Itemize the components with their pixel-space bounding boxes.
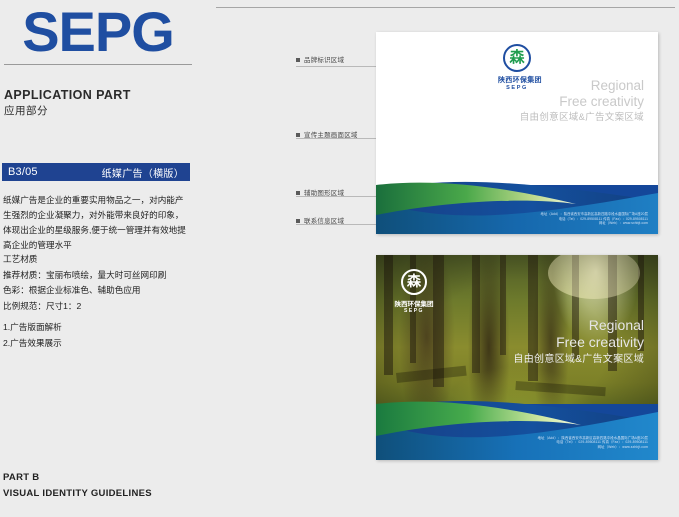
footer-part-label: PART B	[3, 472, 39, 483]
spec-line: 2.广告效果展示	[3, 336, 191, 352]
logo-glyph: 森	[403, 274, 425, 289]
vi-guideline-page: SEPG APPLICATION PART 应用部分 B3/05 纸媒广告（横版…	[0, 0, 679, 517]
logo-company-cn: 陕西环保集团	[392, 298, 436, 308]
annotation-label: 品牌标识区域	[304, 54, 344, 64]
wordmark-divider	[4, 64, 192, 65]
logo-glyph: 森	[505, 50, 529, 66]
spec-block: 工艺材质 推荐材质：宝丽布喷绘，量大时可丝网印刷 色彩：根据企业标准色、辅助色应…	[3, 252, 191, 351]
contact-website: 网址（Web）：www.sxhbjt.com	[541, 221, 648, 226]
ad-photo-mockup-card[interactable]: 森 陕西环保集团 SEPG Regional Free creativity 自…	[376, 255, 658, 460]
logo-lockup: 森 陕西环保集团 SEPG	[392, 269, 436, 314]
contact-info-block: 地址（Add）：陕西省西安市高新区高新四路中段水晶国际广场A座20层 电话（Te…	[541, 212, 648, 226]
section-header-bar: B3/05 纸媒广告（横版）	[2, 163, 190, 181]
bullet-square-icon	[296, 58, 300, 62]
contact-website: 网址（Web）：www.sxhbjt.com	[538, 445, 648, 450]
annotation-contact-info-area: 联系信息区域	[296, 216, 384, 228]
copy-line-1: Regional	[520, 78, 644, 94]
copy-line-3: 自由创意区域&广告文案区域	[520, 110, 644, 126]
application-part-title-en: APPLICATION PART	[4, 88, 131, 102]
application-part-title-cn: 应用部分	[4, 103, 48, 118]
copy-line-1: Regional	[513, 317, 644, 334]
bullet-square-icon	[296, 219, 300, 223]
spec-line: 1.广告版面解析	[3, 320, 191, 336]
spec-heading: 工艺材质	[3, 252, 191, 268]
copy-line-3: 自由创意区域&广告文案区域	[513, 351, 644, 368]
leader-line-graphic	[296, 196, 376, 197]
leader-line-contact	[296, 224, 376, 225]
annotation-main-visual-area: 宣传主题画面区域	[296, 130, 384, 142]
leader-line-visual	[296, 138, 376, 139]
ad-layout-spec-card[interactable]: 森 陕西环保集团 SEPG Regional Free creativity 自…	[376, 32, 658, 234]
sepg-wordmark: SEPG	[4, 4, 192, 60]
bullet-square-icon	[296, 191, 300, 195]
spec-line: 比例规范：尺寸1：2	[3, 299, 191, 315]
top-divider	[216, 7, 675, 8]
section-title: 纸媒广告（横版）	[102, 165, 184, 180]
copy-line-2: Free creativity	[520, 94, 644, 110]
section-code: B3/05	[8, 166, 38, 178]
left-panel: SEPG APPLICATION PART 应用部分 B3/05 纸媒广告（横版…	[0, 0, 196, 517]
spec-line: 推荐材质：宝丽布喷绘，量大时可丝网印刷	[3, 268, 191, 284]
creative-copy-block: Regional Free creativity 自由创意区域&广告文案区域	[513, 317, 644, 368]
annotation-auxiliary-graphic-area: 辅助图形区域	[296, 188, 384, 200]
logo-circle-icon: 森	[503, 44, 531, 72]
bullet-square-icon	[296, 133, 300, 137]
creative-copy-block: Regional Free creativity 自由创意区域&广告文案区域	[520, 78, 644, 126]
contact-info-block: 地址（Add）：陕西省西安市高新区高新四路中段水晶国际广场A座20层 电话（Te…	[538, 436, 648, 450]
logo-company-en: SEPG	[392, 308, 436, 314]
copy-line-2: Free creativity	[513, 334, 644, 351]
footer-guidelines-label: VISUAL IDENTITY GUIDELINES	[3, 488, 152, 499]
right-panel: 品牌标识区域 宣传主题画面区域 辅助图形区域 联系信息区域	[196, 0, 679, 517]
section-description: 纸媒广告是企业的重要实用物品之一，对内能产生强烈的企业凝聚力，对外能带来良好的印…	[3, 193, 191, 253]
logo-circle-icon: 森	[401, 269, 427, 295]
spec-line: 色彩：根据企业标准色、辅助色应用	[3, 283, 191, 299]
